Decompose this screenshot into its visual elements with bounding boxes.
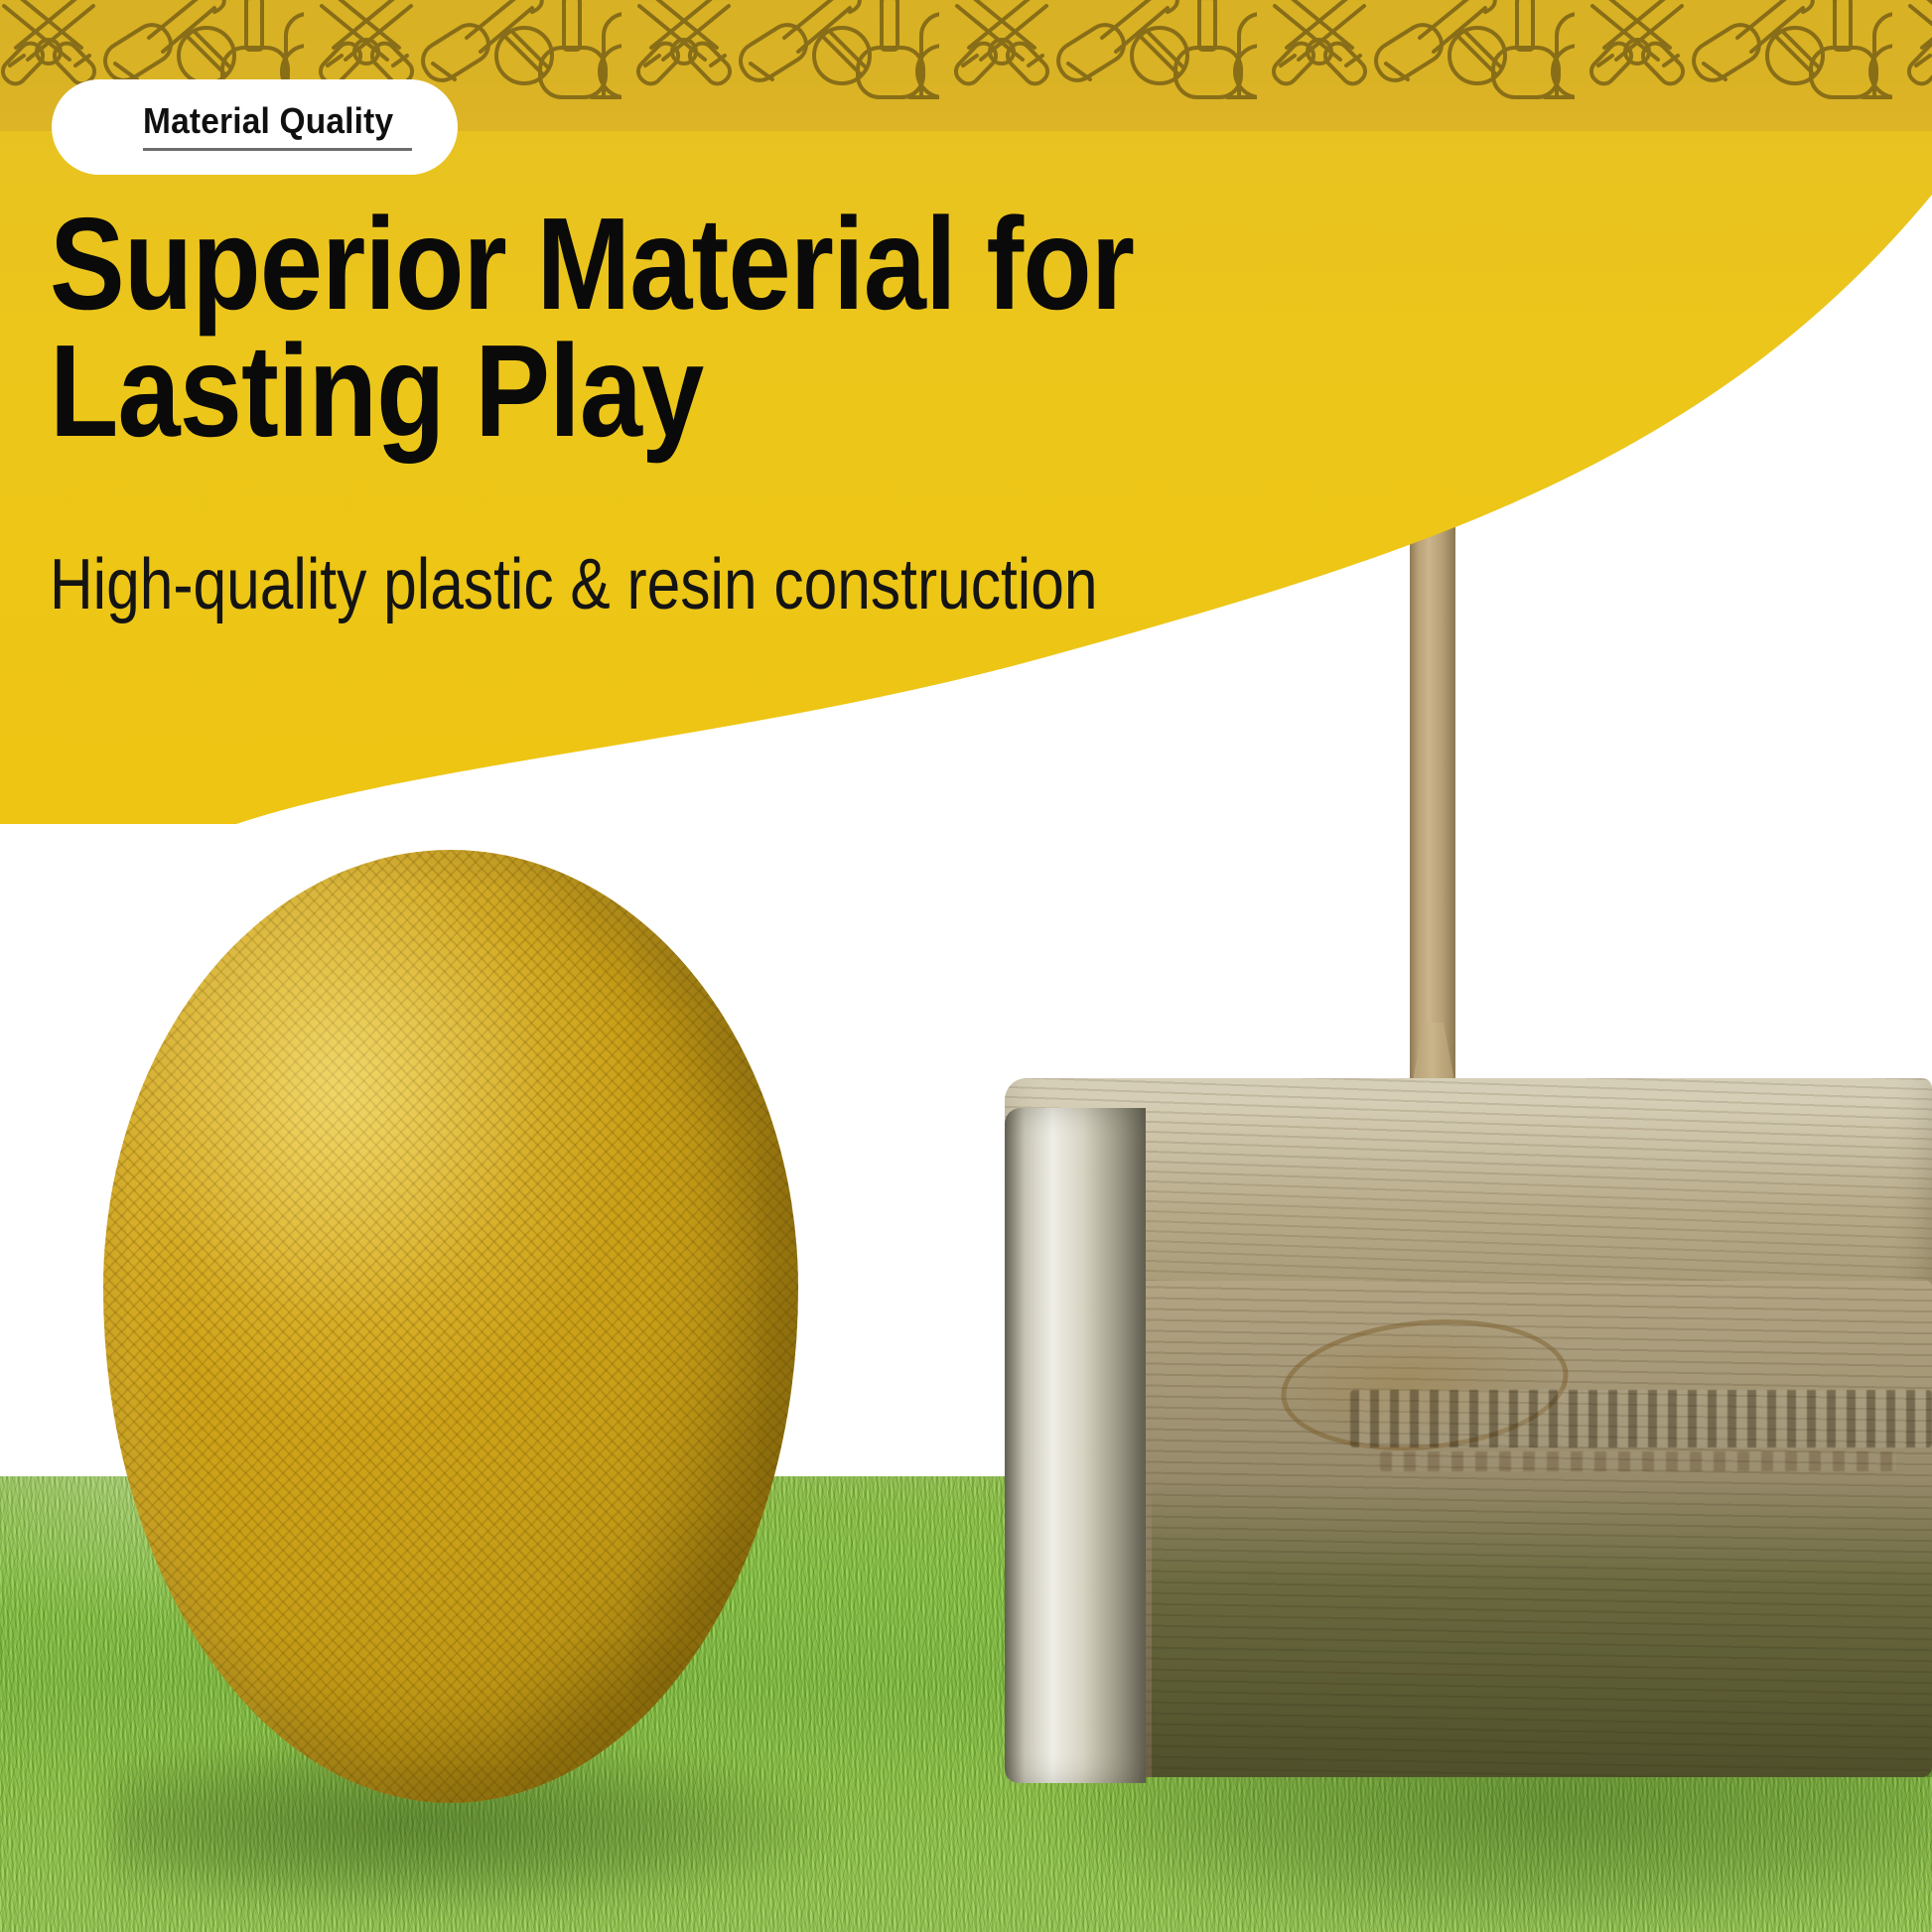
mallet-engraving [1350,1390,1932,1448]
promo-banner-card: Material Quality Superior Material for L… [0,0,1932,1932]
badge-label: Material Quality [143,103,393,139]
mallet-ferrule-band [1005,1108,1146,1783]
category-badge[interactable]: Material Quality [52,79,458,175]
page-title: Superior Material for Lasting Play [50,201,1382,455]
mallet-engraving-secondary [1380,1451,1896,1471]
mallet-grass-reflection [1152,1479,1932,1777]
badge-underline [143,148,412,151]
badge-inner: Material Quality [143,103,412,151]
page-subtitle: High-quality plastic & resin constructio… [50,548,1384,623]
croquet-ball [103,850,798,1803]
